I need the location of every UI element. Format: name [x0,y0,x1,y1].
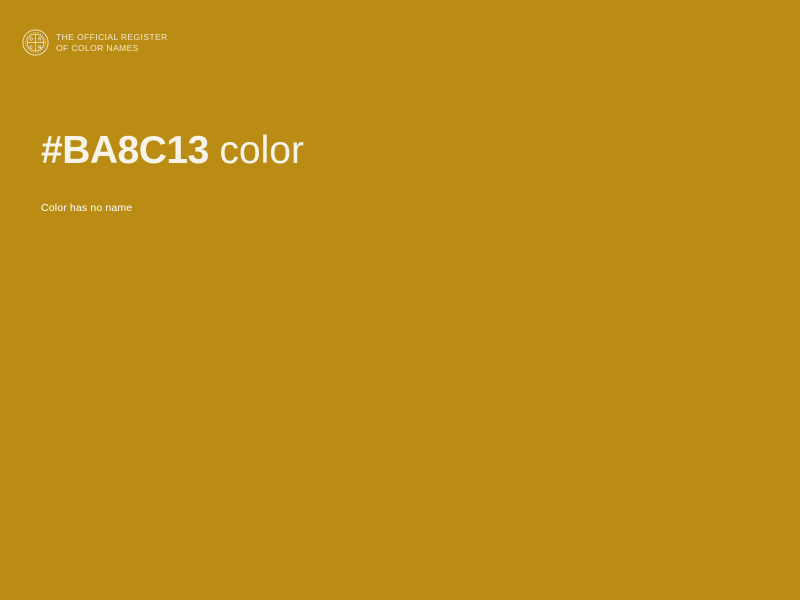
svg-text:C: C [30,44,33,49]
color-page: O R C N THE OFFICIAL REGISTER OF COLOR N… [0,0,800,600]
svg-text:R: R [38,37,41,42]
color-title-suffix: color [219,129,304,172]
svg-text:O: O [30,37,34,42]
register-seal-icon: O R C N [22,29,49,56]
brand-line-1: THE OFFICIAL REGISTER [56,32,168,43]
brand-wordmark: THE OFFICIAL REGISTER OF COLOR NAMES [56,32,168,53]
color-info-block: #BA8C13 color Color has no name [41,128,741,215]
page-title: #BA8C13 color [41,128,741,174]
brand-lockup[interactable]: O R C N THE OFFICIAL REGISTER OF COLOR N… [22,29,168,56]
color-hex-code: #BA8C13 [41,129,209,172]
color-name-status: Color has no name [41,174,741,215]
color-swatch-area [0,240,800,600]
svg-text:N: N [38,44,41,49]
brand-line-2: OF COLOR NAMES [56,43,168,54]
